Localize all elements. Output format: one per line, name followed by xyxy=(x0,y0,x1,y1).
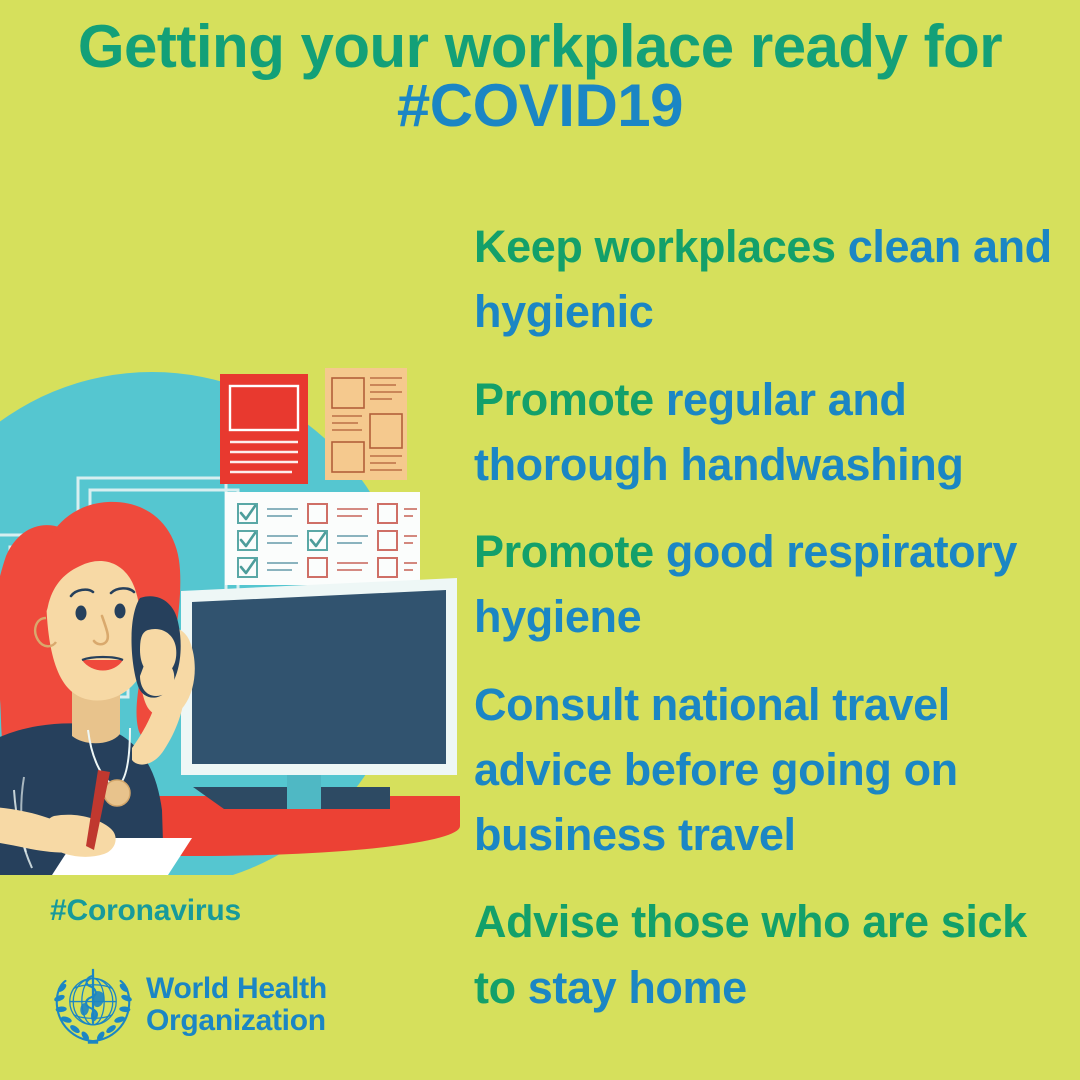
hashtag-coronavirus: #Coronavirus xyxy=(50,894,241,928)
who-wordmark-line-2: Organization xyxy=(146,1005,327,1037)
eye-left xyxy=(76,606,87,621)
bullet-3-green: Promote xyxy=(474,526,666,577)
bullet-4-blue: Consult national travel advice before go… xyxy=(474,679,958,861)
list-item: Keep workplaces clean and hygienic xyxy=(474,214,1054,345)
list-item: Consult national travel advice before go… xyxy=(474,672,1054,868)
computer-monitor xyxy=(181,578,457,809)
list-item: Advise those who are sick to stay home xyxy=(474,889,1054,1020)
necklace-pendant xyxy=(104,780,130,806)
who-wordmark: World Health Organization xyxy=(146,973,327,1038)
red-poster xyxy=(220,374,308,484)
page-title: Getting your workplace ready for #COVID1… xyxy=(0,18,1080,136)
orange-document xyxy=(325,368,407,480)
title-line-1: Getting your workplace ready for xyxy=(0,18,1080,77)
bullet-1-green: Keep workplaces xyxy=(474,221,848,272)
title-hashtag-covid19: #COVID19 xyxy=(0,77,1080,136)
bullet-5-blue: stay home xyxy=(528,962,747,1013)
workplace-illustration xyxy=(0,330,480,875)
checklist-board xyxy=(225,492,420,585)
who-covid-infographic: Getting your workplace ready for #COVID1… xyxy=(0,0,1080,1080)
who-emblem-icon xyxy=(50,962,136,1048)
bullet-2-green: Promote xyxy=(474,374,666,425)
recommendation-list: Keep workplaces clean and hygienic Promo… xyxy=(474,214,1054,1020)
who-wordmark-line-1: World Health xyxy=(146,973,327,1005)
eye-right xyxy=(115,604,126,619)
list-item: Promote regular and thorough handwashing xyxy=(474,367,1054,498)
list-item: Promote good respiratory hygiene xyxy=(474,519,1054,650)
who-logo: World Health Organization xyxy=(50,962,327,1048)
